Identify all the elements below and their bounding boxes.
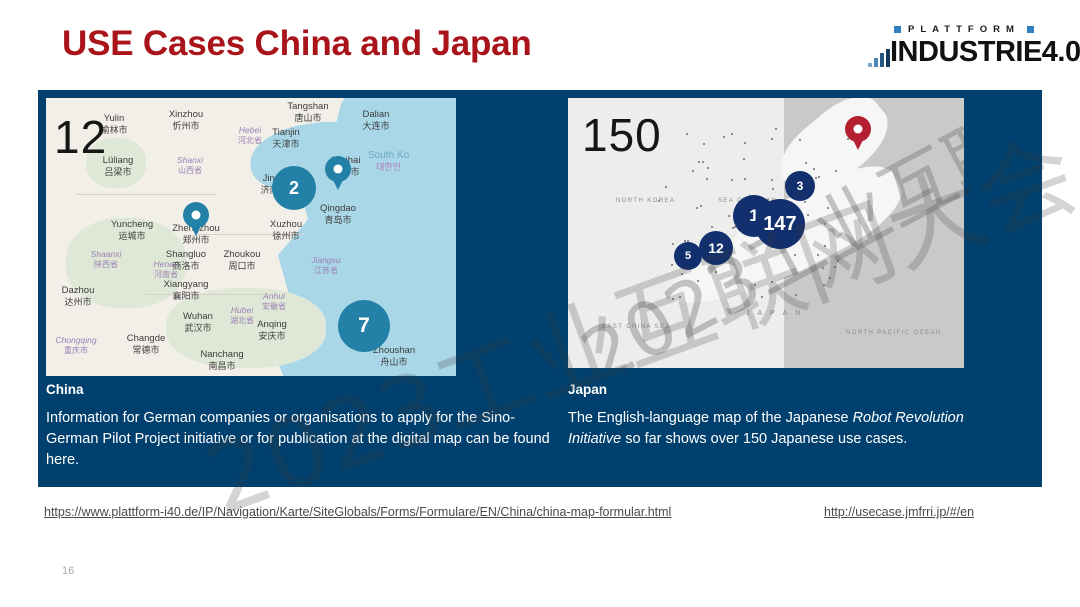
china-city-label-en: Nanchang (200, 349, 243, 360)
china-city-label-en: Xuzhou (270, 219, 302, 230)
china-province-label: Henan河南省 (153, 260, 178, 279)
china-city-label-en: Dazhou (62, 285, 95, 296)
logo-square-right-icon (1027, 26, 1034, 33)
page-title: USE Cases China and Japan (62, 24, 532, 64)
china-city-label: Nanchang南昌市 (200, 350, 243, 371)
japan-city-dot (799, 139, 801, 141)
china-province-label-zh: 江苏省 (311, 266, 340, 275)
china-city-label: Zhoukou周口市 (224, 250, 261, 271)
japan-city-dot (728, 215, 730, 217)
japan-city-dot (834, 266, 836, 268)
japan-city-dot (697, 280, 699, 282)
hokkaido-pin[interactable] (845, 116, 871, 150)
japan-caption: Japan The English-language map of the Ja… (568, 382, 1020, 450)
china-city-label-en: Yuncheng (111, 219, 153, 230)
china-city-label-en: Qingdao (320, 203, 356, 214)
japan-city-dot (743, 158, 745, 160)
japan-city-dot (702, 161, 704, 163)
china-city-label-zh: 青岛市 (320, 215, 356, 225)
china-city-label: Yuncheng运城市 (111, 220, 153, 241)
china-city-label: Tangshan唐山市 (287, 102, 328, 123)
china-province-label: Hubei湖北省 (230, 306, 254, 325)
japan-city-dot (795, 294, 797, 296)
china-map[interactable]: Yulin榆林市Xinzhou忻州市Tianjin天津市Lüliang吕梁市Ji… (46, 98, 456, 376)
content-panel: Yulin榆林市Xinzhou忻州市Tianjin天津市Lüliang吕梁市Ji… (38, 90, 1042, 487)
slide-header: USE Cases China and Japan PLATTFORM INDU… (0, 0, 1080, 88)
china-city-label: Tianjin天津市 (272, 128, 300, 149)
china-city-label-en: Wuhan (183, 311, 213, 322)
source-links: https://www.plattform-i40.de/IP/Navigati… (0, 505, 1080, 529)
japan-use-case-count: 150 (582, 112, 662, 158)
logo-plattform-label: PLATTFORM (908, 24, 1020, 35)
china-province-label-zh: 安徽省 (262, 302, 286, 311)
map-cluster-marker[interactable]: 147 (755, 199, 805, 249)
japan-city-dot (771, 281, 773, 283)
japan-city-dot (681, 273, 683, 275)
china-city-label-en: Lüliang (103, 155, 134, 166)
map-cluster-marker[interactable]: 12 (699, 231, 733, 265)
china-city-label: Wuhan武汉市 (183, 312, 213, 333)
china-city-label-zh: 忻州市 (169, 121, 203, 131)
china-province-label-en: Shaanxi (91, 249, 122, 259)
china-city-label: Qingdao青岛市 (320, 204, 356, 225)
china-city-label-en: Anqing (257, 319, 287, 330)
china-city-label-zh: 天津市 (272, 139, 300, 149)
logo-industrie-label: INDUSTRIE4.0 (890, 36, 1080, 69)
china-province-label: Chongqing重庆市 (55, 336, 96, 355)
china-source-link[interactable]: https://www.plattform-i40.de/IP/Navigati… (44, 505, 671, 519)
china-city-label-zh: 舟山市 (373, 357, 415, 367)
china-city-label-en: Tangshan (287, 101, 328, 112)
china-province-label: Shaanxi陕西省 (91, 250, 122, 269)
china-city-label-zh: 南昌市 (200, 361, 243, 371)
china-city-label-en: Tianjin (272, 127, 300, 138)
china-city-label-zh: 常德市 (127, 345, 166, 355)
japan-city-dot (715, 271, 717, 273)
map-cluster-marker[interactable]: 2 (272, 166, 316, 210)
japan-city-dot (794, 254, 796, 256)
japan-caption-title: Japan (568, 382, 1020, 397)
japan-caption-body: The English-language map of the Japanese… (568, 408, 1020, 450)
china-province-label-zh: 湖北省 (230, 316, 254, 325)
china-province-label-zh: 河南省 (153, 270, 178, 279)
china-caption: China Information for German companies o… (46, 382, 562, 471)
china-city-label-zh: 唐山市 (287, 113, 328, 123)
china-province-label: Hebei河北省 (238, 126, 262, 145)
map-cluster-marker[interactable]: 5 (674, 242, 702, 270)
china-city-label: Zhoushan舟山市 (373, 346, 415, 367)
china-city-label-en: Changde (127, 333, 166, 344)
japan-city-dot (696, 207, 698, 209)
china-caption-body: Information for German companies or orga… (46, 408, 562, 471)
japan-map[interactable]: NORTH KOREASEA OF JAPANJ A P A NEAST CHI… (568, 98, 964, 368)
china-province-label: Jiangsu江苏省 (311, 256, 340, 275)
china-city-label: Xiangyang襄阳市 (164, 280, 209, 301)
japan-source-link[interactable]: http://usecase.jmfrri.jp/#/en (824, 505, 974, 519)
map-cluster-marker[interactable]: 3 (785, 171, 815, 201)
china-city-label-en: Dalian (363, 109, 390, 120)
china-province-label-zh: 重庆市 (55, 346, 96, 355)
china-province-label-en: Chongqing (55, 335, 96, 345)
china-province-label-en: Hubei (231, 305, 253, 315)
china-province-label: Shanxi山西省 (177, 156, 203, 175)
china-province-label-en: Hebei (239, 125, 261, 135)
korea-label-en: South Ko (368, 150, 409, 161)
china-map-border-line (76, 194, 216, 195)
china-city-label: Dalian大连市 (362, 110, 389, 131)
china-caption-title: China (46, 382, 562, 397)
japan-city-dot (707, 167, 709, 169)
japan-city-dot (686, 133, 688, 135)
japan-region-label: NORTH PACIFIC OCEAN (846, 330, 942, 336)
japan-city-dot (665, 186, 667, 188)
japan-city-dot (672, 243, 674, 245)
china-province-label-zh: 山西省 (177, 166, 203, 175)
china-province-label-zh: 陕西省 (91, 260, 122, 269)
china-city-label-zh: 襄阳市 (164, 291, 209, 301)
japan-city-dot (824, 223, 826, 225)
japan-city-dot (711, 226, 713, 228)
qingdao-pin[interactable] (325, 156, 351, 190)
china-city-label-en: Zhoukou (224, 249, 261, 260)
china-province-label-en: Anhui (263, 291, 285, 301)
china-city-label: Changde常德市 (127, 334, 166, 355)
japan-city-dot (754, 284, 756, 286)
japan-city-dot (731, 179, 733, 181)
japan-caption-part2: so far shows over 150 Japanese use cases… (621, 431, 907, 447)
korea-label-zh: 대한민 (368, 162, 409, 172)
china-city-label-zh: 达州市 (62, 297, 95, 307)
china-use-case-count: 12 (54, 114, 107, 160)
china-city-label-zh: 徐州市 (270, 231, 302, 241)
china-city-label-zh: 郑州市 (172, 235, 220, 245)
china-city-label-en: Xinzhou (169, 109, 203, 120)
china-province-label-en: Shanxi (177, 155, 203, 165)
japan-city-dot (698, 161, 700, 163)
china-city-label: Anqing安庆市 (257, 320, 287, 341)
china-province-label: Anhui安徽省 (262, 292, 286, 311)
map-cluster-marker[interactable]: 7 (338, 300, 390, 352)
china-city-label-zh: 吕梁市 (103, 167, 134, 177)
logo-square-left-icon (894, 26, 901, 33)
china-province-label-en: Jiangsu (311, 255, 340, 265)
japan-region-label: EAST CHINA SEA (602, 324, 671, 330)
japan-city-dot (813, 168, 815, 170)
china-city-label: Lüliang吕梁市 (103, 156, 134, 177)
japan-region-label: J A P A N (746, 310, 803, 317)
china-province-label-zh: 河北省 (238, 136, 262, 145)
page-number: 16 (62, 565, 74, 577)
china-city-label-zh: 安庆市 (257, 331, 287, 341)
japan-city-dot (822, 267, 824, 269)
china-city-label: Xuzhou徐州市 (270, 220, 302, 241)
china-map-korea-label: South Ko 대한민 (368, 150, 409, 172)
plattform-industrie-logo: PLATTFORM INDUSTRIE4.0 (868, 24, 1072, 70)
china-city-label: Dazhou达州市 (62, 286, 95, 307)
japan-city-dot (672, 298, 674, 300)
china-province-label-en: Henan (153, 259, 178, 269)
china-city-label-zh: 大连市 (362, 121, 389, 131)
china-city-label-en: Xiangyang (164, 279, 209, 290)
logo-plattform-text: PLATTFORM (894, 24, 1034, 35)
japan-city-dot (829, 277, 831, 279)
japan-city-dot (827, 207, 829, 209)
japan-caption-part1: The English-language map of the Japanese (568, 410, 853, 426)
china-city-label-zh: 周口市 (224, 261, 261, 271)
japan-region-label: NORTH KOREA (616, 198, 675, 204)
japan-city-dot (771, 138, 773, 140)
china-city-label: Xinzhou忻州市 (169, 110, 203, 131)
zhengzhou-pin[interactable] (183, 202, 209, 236)
japan-city-dot (761, 296, 763, 298)
logo-bars-icon (868, 49, 890, 67)
japan-city-dot (703, 143, 705, 145)
japan-city-dot (744, 142, 746, 144)
japan-city-dot (823, 284, 825, 286)
china-city-label-zh: 武汉市 (183, 323, 213, 333)
china-city-label-zh: 运城市 (111, 231, 153, 241)
